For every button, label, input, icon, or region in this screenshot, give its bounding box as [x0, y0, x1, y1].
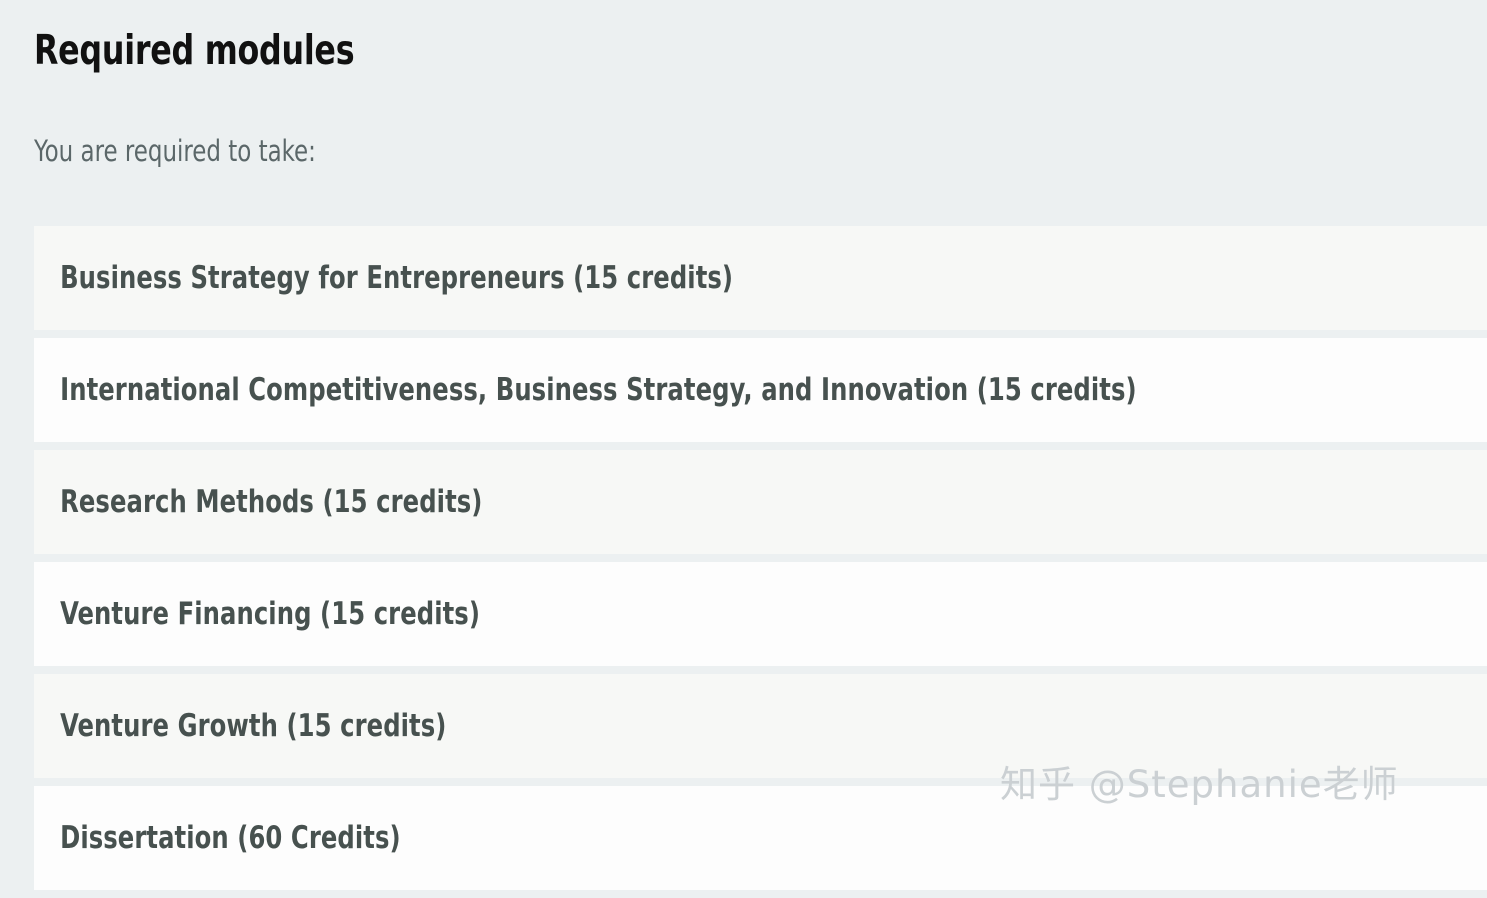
module-title: Venture Financing (15 credits) [34, 596, 480, 632]
module-title: International Competitiveness, Business … [34, 372, 1137, 408]
list-item[interactable]: Research Methods (15 credits) [34, 450, 1487, 554]
required-modules-list: Business Strategy for Entrepreneurs (15 … [34, 226, 1487, 898]
module-title: Research Methods (15 credits) [34, 484, 482, 520]
list-item[interactable]: International Competitiveness, Business … [34, 338, 1487, 442]
list-item[interactable]: Dissertation (60 Credits) [34, 786, 1487, 890]
page-title: Required modules [34, 26, 354, 74]
module-title: Business Strategy for Entrepreneurs (15 … [34, 260, 733, 296]
list-item[interactable]: Venture Growth (15 credits) [34, 674, 1487, 778]
list-item[interactable]: Venture Financing (15 credits) [34, 562, 1487, 666]
intro-text: You are required to take: [34, 133, 316, 169]
module-title: Venture Growth (15 credits) [34, 708, 446, 744]
page-root: Required modules You are required to tak… [0, 0, 1487, 845]
module-title: Dissertation (60 Credits) [34, 820, 401, 856]
list-item[interactable]: Business Strategy for Entrepreneurs (15 … [34, 226, 1487, 330]
